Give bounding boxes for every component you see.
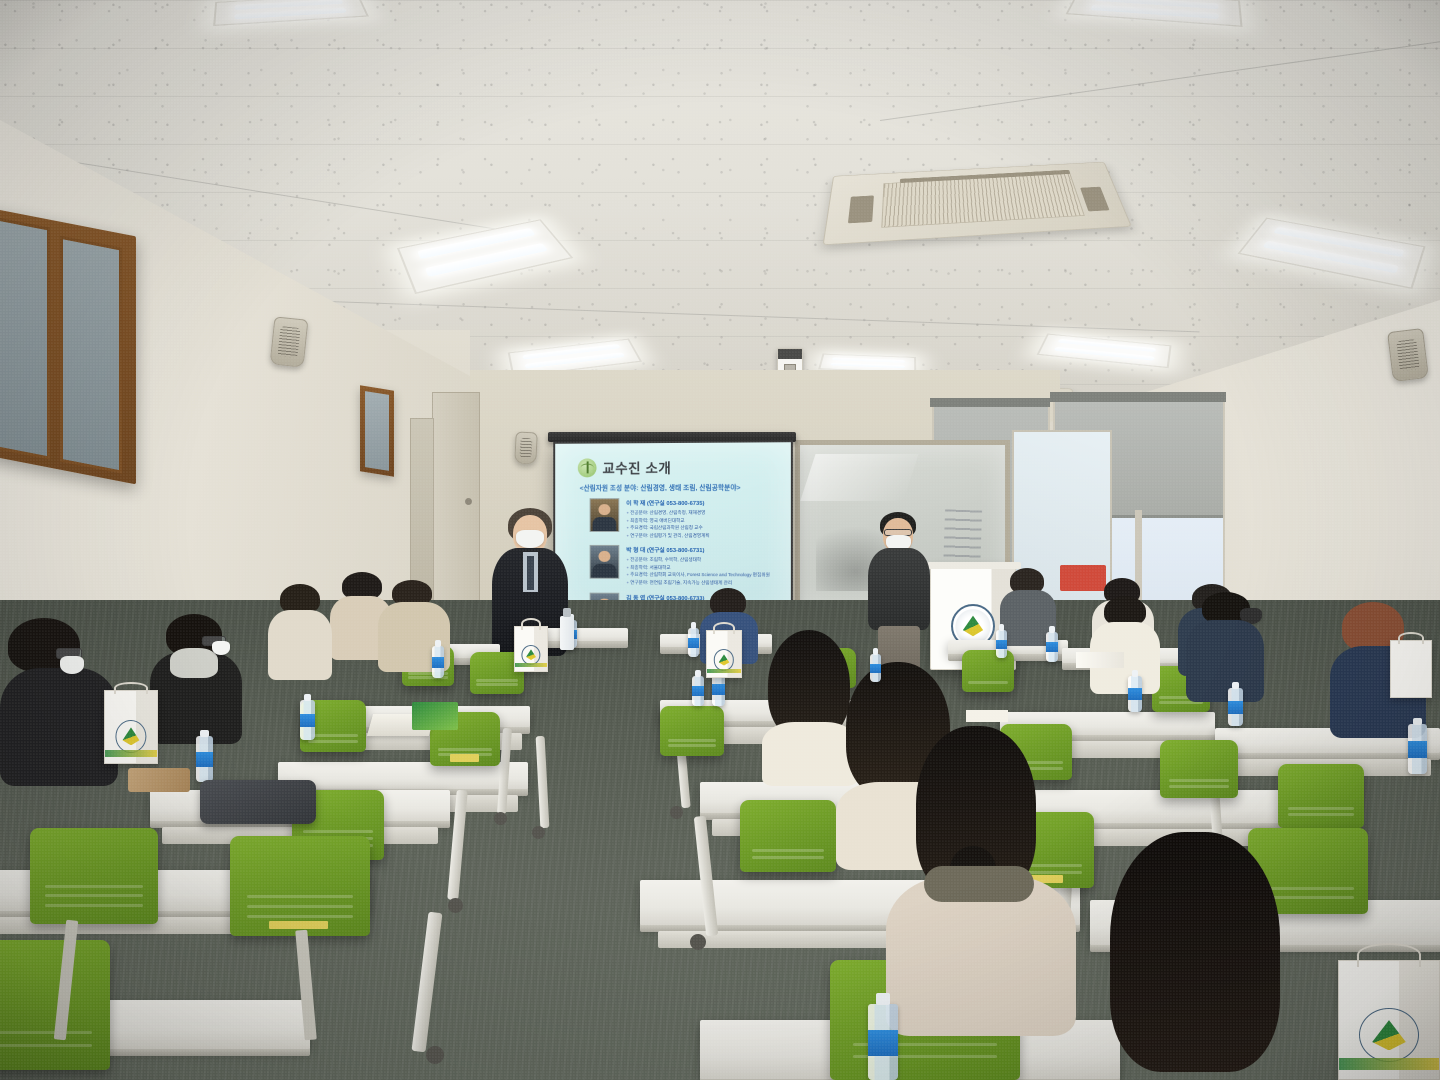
audience-member [268,584,332,674]
slide-title-row: 교수진 소개 [578,456,782,477]
hand-sanitizer [560,616,574,650]
water-bottle [688,628,699,657]
chair[interactable] [740,800,836,872]
paper-sheet [1076,652,1124,668]
professor-detail: 최종학력: 영국 애버딘대학교 [626,516,782,524]
wall-speaker [514,431,538,464]
desk-caster [690,934,706,950]
professor-detail: 전공분야: 산림경영, 산림측정, 재해경영 [626,509,782,517]
water-bottle [692,676,704,706]
professor-name: 박 형 대 (연구실 053-800-6731) [626,545,782,554]
chair[interactable] [1278,764,1364,828]
chair[interactable] [230,836,370,936]
professor-portrait [590,545,620,579]
audience-member [1100,832,1290,1080]
paper-bag [514,626,548,672]
desk-caster [426,1046,444,1064]
water-bottle [1128,676,1142,712]
slide-title: 교수진 소개 [602,457,671,477]
wooden-window [360,385,394,476]
professor-detail: 연구분야: 산림평가 및 관리, 산림경영계획 [626,532,782,540]
classroom-photo: 교수진 소개 <산림자원 조성 분야: 산림경영, 생태 조림, 산림공학분야>… [0,0,1440,1080]
professor-detail: 연구분야: 천연림 조림기술, 지속가능 산림생태계 관리 [626,579,782,587]
desk-caster [670,806,683,819]
audience-member [1090,596,1160,688]
leaf-icon [578,458,597,477]
water-bottle [300,700,315,740]
paper-bag [1390,640,1432,698]
paper-bag [706,630,742,678]
water-bottle [1228,688,1243,726]
chair[interactable] [1160,740,1238,798]
water-bottle [868,1004,898,1080]
water-bottle [1046,632,1058,662]
audience-member [150,614,242,736]
green-folder [412,702,458,730]
chair[interactable] [30,828,158,924]
audience-member [1000,568,1056,642]
slide-subtitle: <산림자원 조성 분야: 산림경영, 생태 조림, 산림공학분야> [580,482,782,493]
audience-member [886,726,1076,1026]
water-bottle [870,654,881,682]
professor-info: 박 형 대 (연구실 053-800-6731) 전공분야: 조림학, 수목학,… [626,545,782,587]
professor-info: 이 학 재 (연구실 053-800-6735) 전공분야: 산림경영, 산림측… [626,498,782,540]
desk-caster [532,826,545,839]
chair[interactable] [660,706,724,756]
paper-sheet [966,710,1008,722]
water-bottle [196,736,213,782]
backpack [200,780,316,824]
desk-caster [494,812,507,825]
blind-headrail [1050,392,1226,402]
professor-detail: 주요경력: 국립산림과학원 산림청 교수 [626,524,782,532]
audience-member [1186,592,1264,696]
professor-entry: 박 형 대 (연구실 053-800-6731) 전공분야: 조림학, 수목학,… [590,545,782,587]
wooden-window [0,208,136,485]
audience-member [0,618,118,778]
professor-name: 이 학 재 (연구실 053-800-6735) [626,498,782,507]
paper-bag [1338,960,1440,1080]
paper-bag [104,690,158,764]
chair[interactable] [0,940,110,1070]
professor-detail: 전공분야: 조림학, 수목학, 산림생태학 [626,556,782,564]
blind-headrail [930,398,1050,407]
wall-speaker [270,316,309,367]
professor-portrait [590,498,620,532]
wall-speaker [1387,328,1429,382]
water-bottle [1408,724,1427,774]
snack-pack [128,768,190,792]
desk-caster [448,898,463,913]
water-bottle [432,646,444,678]
water-bottle [996,630,1007,658]
professor-entry: 이 학 재 (연구실 053-800-6735) 전공분야: 산림경영, 산림측… [590,498,782,540]
